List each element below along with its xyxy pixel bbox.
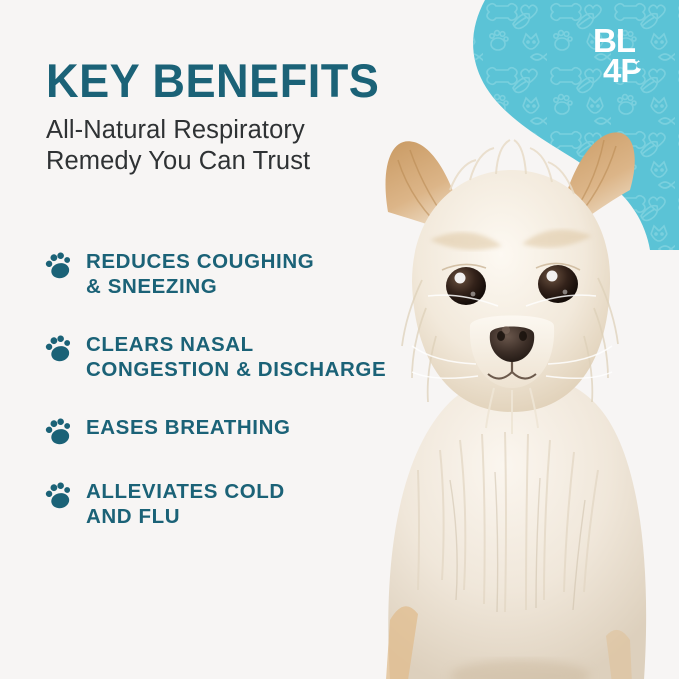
paw-print-icon bbox=[44, 250, 72, 280]
benefit-label: EASES BREATHING bbox=[86, 414, 291, 440]
text-content: KEY BENEFITS All-Natural Respiratory Rem… bbox=[0, 0, 430, 679]
benefit-item-4: ALLEVIATES COLD AND FLU bbox=[44, 478, 434, 529]
paw-print-icon bbox=[44, 333, 72, 363]
benefit-item-2: CLEARS NASAL CONGESTION & DISCHARGE bbox=[44, 331, 434, 382]
paw-print-icon bbox=[44, 416, 72, 446]
page-title: KEY BENEFITS bbox=[46, 57, 379, 105]
svg-text:4P: 4P bbox=[603, 52, 641, 89]
benefit-item-1: REDUCES COUGHING & SNEEZING bbox=[44, 248, 434, 299]
paw-print-icon bbox=[44, 480, 72, 510]
logo-text-4p: 4P bbox=[603, 52, 641, 89]
benefit-label: CLEARS NASAL CONGESTION & DISCHARGE bbox=[86, 331, 386, 382]
brand-logo: BL 4P bbox=[589, 22, 661, 92]
page-subtitle: All-Natural Respiratory Remedy You Can T… bbox=[46, 115, 376, 177]
benefit-label: REDUCES COUGHING & SNEEZING bbox=[86, 248, 314, 299]
benefit-label: ALLEVIATES COLD AND FLU bbox=[86, 478, 285, 529]
benefit-item-3: EASES BREATHING bbox=[44, 414, 434, 446]
poster-canvas: BL 4P bbox=[0, 0, 679, 679]
benefits-list: REDUCES COUGHING & SNEEZING CLEARS N bbox=[44, 248, 434, 529]
